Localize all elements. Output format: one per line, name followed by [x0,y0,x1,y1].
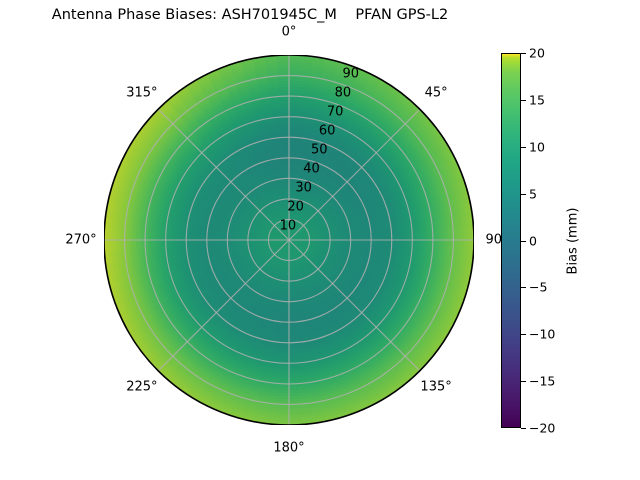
radial-tick-label-80: 80 [335,86,352,101]
angular-tick-label-225: 225° [126,380,157,395]
colorbar-tick-label-15: 15 [529,92,545,107]
colorbar-tick-mark--10 [521,334,526,335]
radial-tick-label-30: 30 [295,181,312,196]
radial-tick-label-90: 90 [343,67,360,82]
colorbar-tick-mark-15 [521,100,526,101]
angular-tick-label-45: 45° [425,85,448,100]
polar-plot-svg [104,55,474,425]
colorbar-tick-label--10: −10 [529,327,555,342]
colorbar-tick-label--20: −20 [529,421,555,436]
figure-title: Antenna Phase Biases: ASH701945C_M PFAN … [0,7,500,23]
radial-tick-label-10: 10 [280,219,297,234]
colorbar-tick-label--15: −15 [529,374,555,389]
colorbar-tick-mark-10 [521,147,526,148]
radial-tick-label-50: 50 [311,143,328,158]
colorbar-tick-mark-5 [521,194,526,195]
angular-tick-label-0: 0° [282,25,297,40]
colorbar-tick-label-10: 10 [529,139,545,154]
radial-tick-label-70: 70 [327,105,344,120]
colorbar-tick-mark-0 [521,241,526,242]
colorbar-tick-label-5: 5 [529,186,537,201]
radial-tick-label-20: 20 [287,200,304,215]
colorbar-tick-mark--15 [521,381,526,382]
matplotlib-figure: Antenna Phase Biases: ASH701945C_M PFAN … [0,0,640,480]
angular-tick-label-270: 270° [65,233,96,248]
colorbar-tick-mark-20 [521,53,526,54]
angular-tick-label-135: 135° [420,380,451,395]
colorbar-gradient [501,53,521,428]
colorbar-tick-label-20: 20 [529,46,545,61]
angular-tick-label-180: 180° [273,441,304,456]
polar-axes: 0°45°90°135°180°225°270°315° 10203040506… [104,55,474,425]
colorbar-tick-mark--5 [521,287,526,288]
radial-tick-label-60: 60 [319,124,336,139]
colorbar-tick-label--5: −5 [529,280,547,295]
colorbar-tick-label-0: 0 [529,233,537,248]
radial-tick-label-40: 40 [303,162,320,177]
polar-grid [104,55,474,425]
colorbar: 20151050−5−10−15−20 Bias (mm) [501,53,631,429]
angular-tick-label-315: 315° [126,85,157,100]
colorbar-axis-label: Bias (mm) [566,208,581,275]
colorbar-tick-mark--20 [521,428,526,429]
